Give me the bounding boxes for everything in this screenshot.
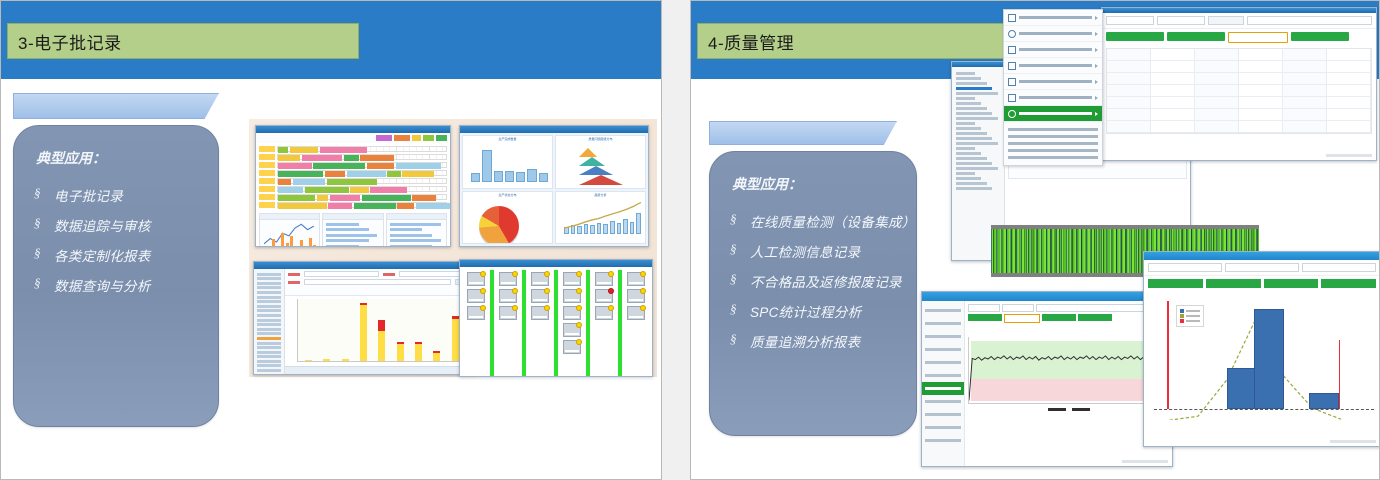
menu-item[interactable] <box>1004 10 1102 26</box>
spc-summary-table-window[interactable] <box>1101 7 1377 161</box>
sidebar-item[interactable] <box>257 286 281 289</box>
collage-reflection: 生产完成数量 质量问题层级分布 生产状态分布 <box>249 377 657 463</box>
presentation-stage: 3-电子批记录 典型应用： §电子批记录 §数据追踪与审核 §各类定制化报表 §… <box>0 0 1380 480</box>
gantt-row[interactable] <box>259 153 447 160</box>
gantt-bar[interactable] <box>330 195 360 201</box>
bar <box>281 233 284 247</box>
legend-chip <box>412 135 421 141</box>
kanban-card[interactable] <box>627 272 645 286</box>
bullet-marker: § <box>730 301 750 317</box>
filter-bar[interactable] <box>1144 260 1380 276</box>
tree-node[interactable] <box>956 137 992 140</box>
gantt-row[interactable] <box>259 185 447 192</box>
sidebar-item[interactable] <box>922 304 964 317</box>
group-tab[interactable] <box>1167 32 1225 41</box>
tree-node[interactable] <box>956 82 987 85</box>
gantt-bar[interactable] <box>278 163 312 169</box>
slide-4-bullet-list: §在线质量检测（设备集成） §人工检测信息记录 §不合格品及返修报废记录 §SP… <box>710 202 916 356</box>
sidebar-item[interactable] <box>257 328 281 331</box>
bar-column <box>323 359 330 361</box>
gantt-track <box>277 202 447 208</box>
gantt-bar[interactable] <box>350 187 368 193</box>
menu-item-label <box>1019 32 1092 35</box>
window-titlebar <box>460 126 648 133</box>
gantt-bar[interactable] <box>278 179 291 185</box>
group-tab[interactable] <box>1291 32 1349 41</box>
gantt-bar[interactable] <box>396 163 441 169</box>
sidebar-item[interactable] <box>257 273 281 276</box>
card-caption <box>597 299 611 301</box>
card-caption <box>597 282 611 284</box>
chart-title: 生产状态分布 <box>463 192 552 197</box>
table-cell <box>1107 85 1151 97</box>
bar-segment-ok <box>433 353 440 361</box>
tree-node[interactable] <box>956 162 992 165</box>
tree-node[interactable] <box>956 142 998 145</box>
gantt-row[interactable] <box>259 177 447 184</box>
gantt-bar[interactable] <box>360 155 394 161</box>
sidebar-item[interactable] <box>257 360 281 363</box>
card-caption <box>565 333 579 335</box>
context-menu-popup[interactable] <box>1003 9 1103 166</box>
trend-line <box>564 198 641 231</box>
status-badge <box>480 271 486 277</box>
kanban-board-window[interactable] <box>459 259 653 377</box>
kanban-card[interactable] <box>467 289 485 303</box>
menu-item[interactable] <box>1004 26 1102 42</box>
spc-control-chart-window[interactable] <box>921 291 1173 467</box>
sidebar-item-label <box>925 374 961 377</box>
kanban-column[interactable] <box>494 270 522 377</box>
date-to-input[interactable] <box>1157 16 1205 25</box>
kanban-card[interactable] <box>499 289 517 303</box>
sidebar-item[interactable] <box>922 343 964 356</box>
table-cell <box>1239 97 1283 109</box>
gantt-bar[interactable] <box>370 187 407 193</box>
sidebar-item[interactable] <box>922 330 964 343</box>
product-select[interactable] <box>1247 16 1372 25</box>
card-caption <box>501 282 515 284</box>
chart-legend <box>968 408 1169 411</box>
copyright-footer <box>1122 460 1168 463</box>
tree-node[interactable] <box>956 132 987 135</box>
gantt-bar[interactable] <box>302 155 342 161</box>
sidebar-item[interactable] <box>922 395 964 408</box>
tree-node[interactable] <box>956 177 981 180</box>
group-tab[interactable] <box>1106 32 1164 41</box>
kanban-card[interactable] <box>563 306 581 320</box>
list-item: §质量追溯分析报表 <box>730 326 916 356</box>
product-select[interactable] <box>1302 263 1376 272</box>
card-caption <box>565 299 579 301</box>
tree-node[interactable] <box>956 102 981 105</box>
kanban-card[interactable] <box>563 323 581 337</box>
status-badge <box>544 271 550 277</box>
list-link[interactable] <box>326 239 369 242</box>
table-cell <box>1239 73 1283 85</box>
gantt-bar[interactable] <box>387 171 400 177</box>
kanban-card[interactable] <box>595 289 613 303</box>
kanban-card[interactable] <box>563 340 581 354</box>
kanban-column[interactable] <box>462 270 490 377</box>
filter-bar[interactable] <box>1102 13 1376 29</box>
tree-node[interactable] <box>956 167 998 170</box>
panel-header <box>323 214 382 220</box>
gantt-bar[interactable] <box>278 147 288 153</box>
histogram-bar <box>1309 393 1339 409</box>
spc-histogram-window[interactable] <box>1143 251 1380 447</box>
list-link[interactable] <box>390 239 441 242</box>
gantt-bar[interactable] <box>313 163 365 169</box>
table-cell <box>1151 85 1195 97</box>
bar-segment-ok <box>452 319 459 361</box>
date-to-input[interactable] <box>1225 263 1299 272</box>
gantt-bar[interactable] <box>290 147 319 153</box>
window-titlebar <box>254 262 476 269</box>
gantt-bar[interactable] <box>278 155 300 161</box>
sidebar-item-label <box>925 309 961 312</box>
kanban-card[interactable] <box>595 306 613 320</box>
kanban-card[interactable] <box>627 306 645 320</box>
date-from-input[interactable] <box>968 304 1000 312</box>
card-caption <box>501 299 515 301</box>
group-tab-buttons[interactable] <box>1102 29 1376 46</box>
table-cell <box>1283 73 1327 85</box>
text-input[interactable] <box>304 271 379 277</box>
sidebar-item[interactable] <box>257 364 281 367</box>
group-tab[interactable] <box>1148 279 1203 288</box>
table-cell <box>1239 121 1283 133</box>
field-label <box>383 273 395 276</box>
kanban-column[interactable] <box>558 270 586 377</box>
card-caption <box>629 282 643 284</box>
gantt-row[interactable] <box>259 193 447 200</box>
tree-node[interactable] <box>956 107 987 110</box>
gantt-bar[interactable] <box>278 171 323 177</box>
table-cell <box>1239 49 1283 61</box>
gantt-bar[interactable] <box>327 179 377 185</box>
bullet-marker: § <box>34 185 54 201</box>
gantt-bar[interactable] <box>278 187 303 193</box>
card-caption <box>533 282 547 284</box>
list-link[interactable] <box>390 228 423 231</box>
gantt-bar[interactable] <box>328 203 352 209</box>
group-tab[interactable] <box>1206 279 1261 288</box>
gantt-list-panel-a <box>322 213 383 247</box>
slide-3-title: 3-电子批记录 <box>8 29 122 54</box>
gantt-bar[interactable] <box>397 203 414 209</box>
gantt-rows[interactable] <box>256 143 450 211</box>
gantt-row[interactable] <box>259 201 447 208</box>
table-cell <box>1327 61 1371 73</box>
submenu-item[interactable] <box>1008 156 1098 159</box>
sidebar-item[interactable] <box>257 369 281 372</box>
query-button[interactable] <box>1208 16 1244 25</box>
gantt-row[interactable] <box>259 169 447 176</box>
sidebar-item[interactable] <box>257 342 281 345</box>
kanban-card[interactable] <box>563 272 581 286</box>
sidebar-item[interactable] <box>257 277 281 280</box>
status-badge <box>512 288 518 294</box>
sidebar-item[interactable] <box>257 351 281 354</box>
menu-item-quality-management[interactable] <box>1004 106 1102 122</box>
gantt-bar[interactable] <box>305 187 349 193</box>
bar <box>286 243 289 247</box>
table-cell <box>1195 73 1239 85</box>
gantt-bar[interactable] <box>347 171 386 177</box>
bar <box>290 236 293 247</box>
sidebar-item-label <box>925 348 961 351</box>
bar-chart-plot <box>297 299 471 362</box>
sidebar-item[interactable] <box>922 369 964 382</box>
date-from-input[interactable] <box>1106 16 1154 25</box>
report-main <box>285 269 476 374</box>
date-to-input[interactable] <box>1002 304 1034 312</box>
sidebar-item[interactable] <box>257 282 281 285</box>
kanban-card[interactable] <box>563 289 581 303</box>
list-link[interactable] <box>390 234 433 237</box>
gantt-row-label <box>259 194 275 200</box>
table-cell <box>1327 73 1371 85</box>
tree-node[interactable] <box>956 127 981 130</box>
menu-item[interactable] <box>1004 90 1102 106</box>
group-tab[interactable] <box>1264 279 1319 288</box>
control-chart-plot <box>968 337 1169 404</box>
tree-node[interactable] <box>956 92 998 95</box>
submenu-item[interactable] <box>1008 142 1098 145</box>
legend-chip <box>394 135 410 141</box>
bar <box>494 171 503 182</box>
kanban-card[interactable] <box>531 289 549 303</box>
dashboard-window[interactable]: 生产完成数量 质量问题层级分布 生产状态分布 <box>459 125 649 247</box>
kanban-column[interactable] <box>526 270 554 377</box>
bar-segment-defect <box>378 320 385 330</box>
gantt-bar-chart-panel <box>259 213 320 247</box>
sidebar-item[interactable] <box>257 355 281 358</box>
sidebar-item[interactable] <box>922 434 964 447</box>
slide-3-electronic-batch-record: 3-电子批记录 典型应用： §电子批记录 §数据追踪与审核 §各类定制化报表 §… <box>0 0 662 480</box>
bar-column <box>305 360 312 361</box>
gantt-bar[interactable] <box>320 147 367 153</box>
sidebar-item[interactable] <box>257 296 281 299</box>
slide-3-callout-tab <box>13 93 219 119</box>
tree-node[interactable] <box>956 157 987 160</box>
chevron-right-icon <box>1095 80 1098 84</box>
menu-item[interactable] <box>1004 74 1102 90</box>
tree-node[interactable] <box>956 97 975 100</box>
bullet-marker: § <box>730 271 750 287</box>
gantt-bar[interactable] <box>325 171 345 177</box>
gantt-track <box>277 186 447 192</box>
chart-title: 生产完成数量 <box>463 136 552 141</box>
sidebar-item[interactable] <box>922 408 964 421</box>
tree-node[interactable] <box>956 187 992 190</box>
gantt-bar[interactable] <box>278 195 315 201</box>
card-caption <box>469 299 483 301</box>
gantt-schedule-window[interactable] <box>255 125 451 247</box>
bar <box>309 238 312 247</box>
group-tab[interactable] <box>1078 314 1112 321</box>
bar <box>313 245 316 247</box>
tree-node[interactable] <box>956 147 975 150</box>
bullet-marker: § <box>730 241 750 257</box>
bar <box>505 171 514 181</box>
sidebar-item[interactable] <box>257 346 281 349</box>
table-cell <box>1107 49 1151 61</box>
submenu-item[interactable] <box>1008 135 1098 138</box>
table-cell <box>1151 109 1195 121</box>
kanban-column[interactable] <box>590 270 618 377</box>
tree-node[interactable] <box>956 117 998 120</box>
legend-chip <box>423 135 434 141</box>
bar <box>527 169 536 181</box>
gantt-bar[interactable] <box>416 203 451 209</box>
gantt-legend-chips <box>256 133 450 143</box>
dashboard-pyramid-chart: 质量问题层级分布 <box>555 135 646 189</box>
kanban-card[interactable] <box>499 306 517 320</box>
sidebar-nav[interactable] <box>922 301 965 466</box>
menu-item[interactable] <box>1004 42 1102 58</box>
menu-item-label <box>1019 48 1092 51</box>
sidebar-item[interactable] <box>257 300 281 303</box>
tree-node[interactable] <box>956 72 975 75</box>
tree-node[interactable] <box>956 87 992 90</box>
group-tab-buttons[interactable] <box>1144 276 1380 291</box>
report-bar-chart-window[interactable] <box>253 261 477 375</box>
kanban-column[interactable] <box>622 270 650 377</box>
submenu-items[interactable] <box>1004 122 1102 165</box>
gantt-bar[interactable] <box>412 195 436 201</box>
legend-chip <box>436 135 447 141</box>
table-cell <box>1151 97 1195 109</box>
gantt-row[interactable] <box>259 145 447 152</box>
table-cell <box>1107 97 1151 109</box>
table-cell <box>1283 97 1327 109</box>
group-tab[interactable] <box>1042 314 1076 321</box>
gantt-row[interactable] <box>259 161 447 168</box>
tree-node[interactable] <box>956 172 975 175</box>
gear-icon <box>1008 78 1016 86</box>
list-link[interactable] <box>326 223 359 226</box>
table-cell <box>1151 49 1195 61</box>
chevron-right-icon <box>1095 16 1098 20</box>
kanban-card[interactable] <box>627 289 645 303</box>
table-cell <box>1107 73 1151 85</box>
kanban-card[interactable] <box>531 306 549 320</box>
group-tab[interactable] <box>968 314 1002 321</box>
tree-node[interactable] <box>956 77 981 80</box>
card-caption <box>565 316 579 318</box>
table-cell <box>1327 109 1371 121</box>
form-row <box>288 271 473 277</box>
kanban-columns[interactable] <box>460 267 652 377</box>
card-caption <box>565 282 579 284</box>
tree-node[interactable] <box>956 152 981 155</box>
tree-node[interactable] <box>956 112 992 115</box>
gantt-bar[interactable] <box>402 171 434 177</box>
sidebar-item[interactable] <box>257 319 281 322</box>
report-sidebar[interactable] <box>254 269 285 374</box>
list-item: §不合格品及返修报废记录 <box>730 266 916 296</box>
gantt-bar[interactable] <box>317 195 329 201</box>
gantt-bar[interactable] <box>362 195 411 201</box>
statistics-table <box>1106 48 1372 134</box>
status-badge <box>480 288 486 294</box>
sidebar-item[interactable] <box>922 356 964 369</box>
sidebar-item-label <box>925 426 961 429</box>
tree-node[interactable] <box>956 182 987 185</box>
filter-bar[interactable] <box>968 304 1169 312</box>
list-link[interactable] <box>326 234 377 237</box>
submenu-item[interactable] <box>1008 149 1098 152</box>
submenu-item[interactable] <box>1008 128 1098 131</box>
tree-node[interactable] <box>956 122 975 125</box>
kanban-card[interactable] <box>531 272 549 286</box>
gantt-track <box>277 154 447 160</box>
query-form[interactable] <box>285 269 476 296</box>
table-cell <box>1283 61 1327 73</box>
list-link[interactable] <box>326 228 369 231</box>
gantt-bar[interactable] <box>278 203 327 209</box>
histogram-bar <box>1254 309 1284 409</box>
group-tab-buttons[interactable] <box>968 314 1169 323</box>
sidebar-item[interactable] <box>257 309 281 312</box>
legend-entry <box>1048 408 1066 411</box>
list-item: §数据查询与分析 <box>34 270 218 300</box>
gantt-bar[interactable] <box>344 155 359 161</box>
gantt-bar[interactable] <box>293 179 325 185</box>
sidebar-item[interactable] <box>257 314 281 317</box>
kanban-card[interactable] <box>595 272 613 286</box>
table-cell <box>1283 121 1327 133</box>
sidebar-item[interactable] <box>257 337 281 340</box>
gantt-bar[interactable] <box>354 203 396 209</box>
bullet-marker: § <box>34 215 54 231</box>
kanban-card[interactable] <box>499 272 517 286</box>
kanban-card[interactable] <box>467 306 485 320</box>
bar-column <box>452 316 459 361</box>
slide-3-screenshot-collage: 生产完成数量 质量问题层级分布 生产状态分布 <box>249 119 657 377</box>
gantt-bar[interactable] <box>367 163 394 169</box>
table-cell <box>1107 121 1151 133</box>
gantt-track <box>277 162 447 168</box>
sidebar-item[interactable] <box>257 291 281 294</box>
sidebar-item[interactable] <box>922 317 964 330</box>
group-tab[interactable] <box>1321 279 1376 288</box>
gantt-row-label <box>259 178 275 184</box>
text-input[interactable] <box>304 279 451 285</box>
sidebar-item-quality[interactable] <box>922 382 964 395</box>
list-link[interactable] <box>326 245 359 248</box>
list-item: §各类定制化报表 <box>34 240 218 270</box>
sidebar-item[interactable] <box>257 305 281 308</box>
group-tab-selected[interactable] <box>1228 32 1288 43</box>
gantt-sub-panels <box>256 211 450 247</box>
menu-item[interactable] <box>1004 58 1102 74</box>
group-tab-selected[interactable] <box>1004 314 1040 323</box>
sidebar-item[interactable] <box>922 421 964 434</box>
list-link[interactable] <box>390 245 433 248</box>
histogram-plot <box>1154 297 1374 410</box>
report-body <box>254 269 476 374</box>
table-cell <box>1327 97 1371 109</box>
sidebar-item[interactable] <box>257 323 281 326</box>
sidebar-item[interactable] <box>257 332 281 335</box>
date-from-input[interactable] <box>1148 263 1222 272</box>
window-titlebar <box>1144 252 1380 260</box>
kanban-card[interactable] <box>467 272 485 286</box>
list-link[interactable] <box>390 223 441 226</box>
